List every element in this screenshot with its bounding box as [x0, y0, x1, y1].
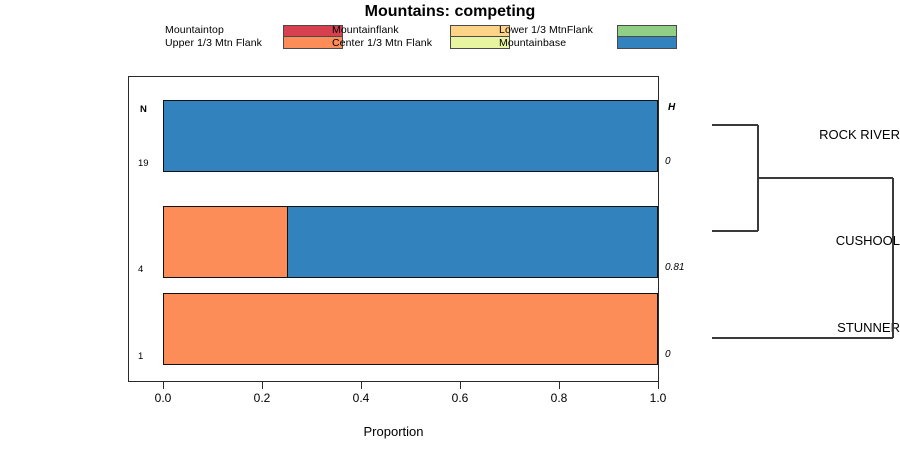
x-axis-tick [559, 382, 560, 389]
x-axis-tick [658, 382, 659, 389]
legend: Mountaintop Upper 1/3 Mtn Flank Mountain… [0, 24, 900, 56]
x-axis-tick [163, 382, 164, 389]
stacked-bar[interactable] [163, 206, 658, 278]
legend-swatch-mountainbase [618, 37, 676, 48]
n-value: 19 [138, 158, 149, 169]
stacked-bar[interactable] [163, 100, 658, 172]
legend-label-center-third-mtn-flank: Center 1/3 Mtn Flank [332, 37, 448, 50]
x-axis: 0.00.20.40.60.81.0 [128, 382, 659, 383]
x-axis-title: Proportion [128, 424, 659, 439]
bar-segment[interactable] [164, 294, 657, 364]
h-column-header: H [668, 102, 675, 113]
legend-label-mountainbase: Mountainbase [499, 37, 615, 50]
x-axis-tick [262, 382, 263, 389]
legend-column-1-labels: Mountaintop Upper 1/3 Mtn Flank [165, 24, 281, 50]
legend-column-3-labels: Lower 1/3 MtnFlank Mountainbase [499, 24, 615, 50]
h-value: 0 [665, 156, 671, 167]
legend-label-upper-third-mtn-flank: Upper 1/3 Mtn Flank [165, 37, 281, 50]
dendrogram-svg [700, 76, 900, 382]
bar-segment[interactable] [164, 101, 657, 171]
chart-title: Mountains: competing [0, 3, 900, 21]
x-axis-tick-label: 0.4 [353, 391, 370, 405]
x-axis-tick [361, 382, 362, 389]
n-value: 1 [138, 351, 143, 362]
x-axis-tick [460, 382, 461, 389]
bar-segment[interactable] [287, 207, 657, 277]
x-axis-tick-label: 0.0 [155, 391, 172, 405]
legend-column-2-labels: Mountainflank Center 1/3 Mtn Flank [332, 24, 448, 50]
dendrogram [700, 76, 900, 382]
legend-column-3-swatches [617, 25, 677, 49]
x-axis-tick-label: 0.6 [452, 391, 469, 405]
x-axis-tick-label: 0.8 [551, 391, 568, 405]
bar-segment[interactable] [164, 207, 287, 277]
n-column-header: N [140, 104, 147, 115]
h-value: 0 [665, 349, 671, 360]
chart-root: Mountains: competing Mountaintop Upper 1… [0, 0, 900, 460]
legend-swatch-lower-third-mtn-flank [618, 26, 676, 37]
x-axis-tick-label: 0.2 [254, 391, 271, 405]
legend-label-mountaintop: Mountaintop [165, 24, 281, 37]
legend-label-mountainflank: Mountainflank [332, 24, 448, 37]
stacked-bar[interactable] [163, 293, 658, 365]
x-axis-tick-label: 1.0 [650, 391, 667, 405]
h-value: 0.81 [665, 262, 684, 273]
n-value: 4 [138, 264, 143, 275]
legend-label-lower-third-mtn-flank: Lower 1/3 MtnFlank [499, 24, 615, 37]
